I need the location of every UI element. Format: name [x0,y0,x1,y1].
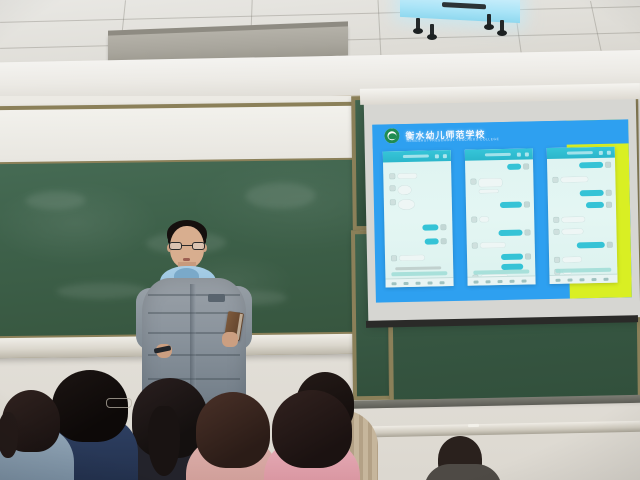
institution-subtitle: HENGSHUI PRESCHOOL TEACHERS COLLEGE [407,137,500,143]
lamp-mount-rod [416,18,420,31]
chat-bottom-toolbar [385,277,453,287]
presentation-slide: 衡水幼儿师范学校 HENGSHUI PRESCHOOL TEACHERS COL… [372,119,632,302]
seated-audience-row [0,360,640,480]
audience-body-far-right [424,464,502,480]
chat-screenshot-1 [383,150,454,287]
chat-screenshot-3 [547,147,618,284]
lamp-mount-rod [487,14,491,27]
chat-screenshot-2 [465,148,536,285]
audience-eyeglasses-icon [106,398,132,408]
presenter-mouth [183,258,190,261]
institution-logo-icon [384,128,399,143]
chat-header-bar [465,148,533,160]
audience-head-pink-top [272,390,352,468]
audience-ponytail [148,406,180,476]
projection-screen: 衡水幼儿师范学校 HENGSHUI PRESCHOOL TEACHERS COL… [364,93,640,323]
lamp-mount-rod [500,20,504,33]
jacket-chest-pocket [208,294,225,302]
lamp-mount-rod [430,24,434,37]
classroom-photo-scene: 衡水幼儿师范学校 HENGSHUI PRESCHOOL TEACHERS COL… [0,0,640,480]
presenter-right-hand [222,332,238,347]
lamp-strip [442,2,486,9]
chat-bottom-toolbar [467,275,535,285]
chat-bottom-toolbar [549,274,617,284]
audience-ponytail [0,412,18,458]
chat-header-bar [547,147,615,159]
chat-header-bar [383,150,451,162]
eyeglasses-icon [169,242,205,250]
audience-head-brown-hair [196,392,270,468]
board-upper-white-panel [0,106,355,162]
